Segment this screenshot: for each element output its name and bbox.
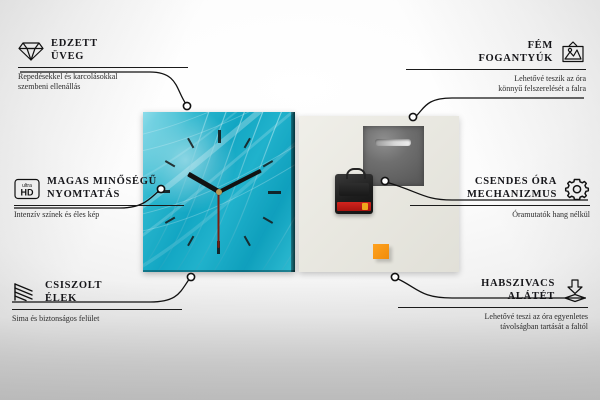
feature-divider bbox=[398, 307, 588, 308]
callout-dot-tempered-glass bbox=[183, 102, 190, 109]
feature-desc-line1: Óramutatók hang nélkül bbox=[410, 210, 590, 220]
infographic-canvas: EDZETT ÜVEG Repedésekkel és karcolásokka… bbox=[0, 0, 600, 400]
feature-tempered-glass: EDZETT ÜVEG Repedésekkel és karcolásokka… bbox=[18, 38, 188, 92]
feature-title-line2: ALÁTÉT bbox=[481, 291, 555, 304]
feature-header: EDZETT ÜVEG bbox=[18, 38, 188, 63]
feature-divider bbox=[14, 205, 184, 206]
feature-title-line2: ÉLEK bbox=[45, 293, 102, 306]
feature-desc-line1: Repedésekkel és karcolásokkal bbox=[18, 72, 188, 82]
feature-divider bbox=[12, 309, 182, 310]
clock-center-pin bbox=[216, 189, 222, 195]
mechanism-hanger-loop bbox=[346, 168, 366, 179]
glass-edge-bottom bbox=[143, 270, 295, 272]
feature-header: CSENDES ÓRA MECHANIZMUS bbox=[410, 176, 590, 201]
feature-silent-mechanism: CSENDES ÓRA MECHANIZMUS Óramutatók hang … bbox=[410, 176, 590, 220]
clock-tick bbox=[219, 191, 281, 193]
feature-desc-line2: távolságban tartását a faltól bbox=[398, 322, 588, 332]
feature-header: ultra HD MAGAS MINŐSÉGŰ NYOMTATÁS bbox=[14, 176, 184, 201]
clock-mechanism-box bbox=[335, 174, 373, 214]
hanger-slot bbox=[375, 139, 411, 146]
feature-desc-line2: könnyű felszerelését a falra bbox=[406, 84, 586, 94]
feature-foam-spacer: HABSZIVACS ALÁTÉT Lehetővé teszi az óra … bbox=[398, 278, 588, 332]
feature-title-line1: CSISZOLT bbox=[45, 280, 102, 293]
feature-title-line1: MAGAS MINŐSÉGŰ bbox=[47, 176, 157, 189]
svg-text:HD: HD bbox=[21, 187, 34, 197]
feature-header: FÉM FOGANTYÚK bbox=[406, 40, 586, 65]
feature-title-line2: FOGANTYÚK bbox=[478, 53, 553, 66]
feature-title-line1: HABSZIVACS bbox=[481, 278, 555, 291]
foam-pad bbox=[373, 244, 389, 259]
battery bbox=[337, 202, 371, 211]
gear-icon bbox=[564, 177, 590, 201]
feature-header: CSISZOLT ÉLEK bbox=[12, 280, 182, 305]
feature-title-line2: MECHANIZMUS bbox=[467, 189, 557, 202]
feature-high-quality-print: ultra HD MAGAS MINŐSÉGŰ NYOMTATÁS Intenz… bbox=[14, 176, 184, 220]
feature-header: HABSZIVACS ALÁTÉT bbox=[398, 278, 588, 303]
glass-edge-right bbox=[291, 112, 295, 272]
feature-polished-edges: CSISZOLT ÉLEK Sima és biztonságos felüle… bbox=[12, 280, 182, 324]
feature-title-line2: NYOMTATÁS bbox=[47, 189, 157, 202]
feature-divider bbox=[18, 67, 188, 68]
polished-edge-icon bbox=[12, 282, 38, 304]
picture-hanger-icon bbox=[560, 41, 586, 65]
feature-desc-line2: szembeni ellenállás bbox=[18, 82, 188, 92]
diamond-icon bbox=[18, 40, 44, 62]
feature-divider bbox=[406, 69, 586, 70]
clock-tick bbox=[218, 130, 220, 192]
foam-pad-icon bbox=[562, 279, 588, 303]
feature-title-line1: EDZETT bbox=[51, 38, 98, 51]
feature-divider bbox=[410, 205, 590, 206]
mechanism-ridge bbox=[339, 183, 369, 196]
feature-title-line2: ÜVEG bbox=[51, 51, 98, 64]
feature-desc-line1: Lehetővé teszik az óra bbox=[406, 74, 586, 84]
feature-title-line1: FÉM bbox=[478, 40, 553, 53]
feature-metal-handles: FÉM FOGANTYÚK Lehetővé teszik az óra kön… bbox=[406, 40, 586, 94]
feature-title-line1: CSENDES ÓRA bbox=[467, 176, 557, 189]
feature-desc-line1: Sima és biztonságos felület bbox=[12, 314, 182, 324]
feature-desc-line1: Lehetővé teszi az óra egyenletes bbox=[398, 312, 588, 322]
feature-desc-line1: Intenzív színek és éles kép bbox=[14, 210, 184, 220]
ultra-hd-icon: ultra HD bbox=[14, 178, 40, 200]
